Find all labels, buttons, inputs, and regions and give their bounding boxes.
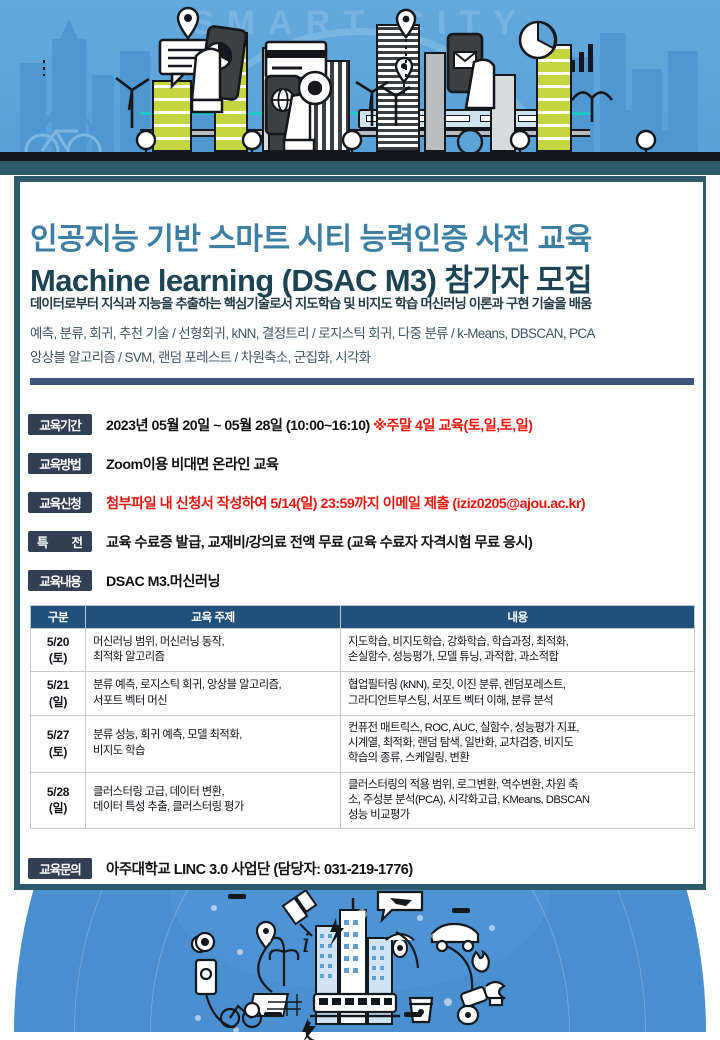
badge-contact: 교육문의 [28,858,92,879]
cell-date: 5/28(일) [31,772,86,829]
dash-decoration [404,1012,422,1017]
dash-decoration [264,1012,282,1017]
info-text-application: 첨부파일 내 신청서 작성하여 5/14(일) 23:59까지 이메일 제출 (… [106,493,585,513]
cell-date: 5/21(일) [31,672,86,715]
plug-icon [458,986,488,1024]
cell-date: 5/20(토) [31,629,86,672]
gear-icon [299,72,331,104]
table-body: 5/20(토) 머신러닝 범위, 머신러닝 동작,최적화 알고리즘 지도학습, … [31,629,695,829]
badge-method: 교육방법 [28,453,92,474]
windmill-icon [382,87,410,126]
cell-topic: 머신러닝 범위, 머신러닝 동작,최적화 알고리즘 [86,629,341,672]
windmill-icon [270,938,298,986]
keyword-line-2: 앙상블 알고리즘 / SVM, 랜덤 포레스트 / 차원축소, 군집화, 시각화 [30,346,370,366]
schedule-table: 구분 교육 주제 내용 5/20(토) 머신러닝 범위, 머신러닝 동작,최적화… [30,605,695,829]
th-division: 구분 [31,606,86,629]
th-topic: 교육 주제 [86,606,341,629]
banner-base-band [0,161,720,175]
cell-date: 5/27(토) [31,715,86,772]
info-text-method: Zoom이용 비대면 온라인 교육 [106,454,278,474]
info-row-benefits: 특전 교육 수료증 발급, 교재비/강의료 전액 무료 (교육 수료자 자격시험… [28,531,532,552]
hand-icon-left [192,49,222,112]
windmill-icon [116,78,149,128]
footer-icon-group: i [0,890,720,1040]
th-content: 내용 [341,606,695,629]
satellite-icon [283,890,316,936]
lightbulb-icon [486,982,504,1005]
table-row: 5/21(일) 분류 예측, 로지스틱 회귀, 앙상블 알고리즘,서포트 벡터 … [31,672,695,715]
info-text-period: 2023년 05월 20일 ~ 05월 28일 (10:00~16:10) ※주… [106,415,532,435]
cell-topic: 분류 성능, 회귀 예측, 모델 최적화,비지도 학습 [86,715,341,772]
dash-decoration [452,908,470,913]
cell-content: 협업필터링 (kNN), 로짓, 이진 분류, 렌덤포레스트,그라디언트부스팅,… [341,672,695,715]
bird-icon [572,92,612,122]
airplane-chat-icon [378,892,422,920]
info-row-application: 교육신청 첨부파일 내 신청서 작성하여 5/14(일) 23:59까지 이메일… [28,492,585,513]
banner-ground-line [0,152,720,161]
tree-icon [458,130,482,154]
map-pin-icon [396,58,412,82]
section-divider-bar [30,378,694,385]
table-row: 5/20(토) 머신러닝 범위, 머신러닝 동작,최적화 알고리즘 지도학습, … [31,629,695,672]
info-text-benefits: 교육 수료증 발급, 교재비/강의료 전액 무료 (교육 수료자 자격시험 무료… [106,532,532,552]
table-row: 5/28(일) 클러스터링 고급, 데이터 변환,데이터 특성 추출, 클러스터… [31,772,695,829]
cell-topic: 클러스터링 고급, 데이터 변환,데이터 특성 추출, 클러스터링 평가 [86,772,341,829]
contact-row: 교육문의 아주대학교 LINC 3.0 사업단 (담당자: 031-219-17… [28,858,413,879]
cell-content: 컨퓨전 매트릭스, ROC, AUC, 실함수, 성능평가 지표,시계열, 최적… [341,715,695,772]
badge-benefits-char1: 특 [37,532,49,551]
info-row-period: 교육기간 2023년 05월 20일 ~ 05월 28일 (10:00~16:1… [28,414,532,435]
lightbulb-icon [245,1003,259,1017]
cell-topic: 분류 예측, 로지스틱 회귀, 앙상블 알고리즘,서포트 벡터 머신 [86,672,341,715]
badge-benefits: 특전 [28,531,92,552]
bar-chart-icon [570,44,593,72]
info-text-curriculum: DSAC M3.머신러닝 [106,571,220,591]
table-row: 5/27(토) 분류 성능, 회귀 예측, 모델 최적화,비지도 학습 컨퓨전 … [31,715,695,772]
bottom-illustration: i [0,890,720,1040]
page-title-line1: 인공지능 기반 스마트 시티 능력인증 사전 교육 [30,214,592,258]
badge-curriculum: 교육내용 [28,570,92,591]
table-header-row: 구분 교육 주제 내용 [31,606,695,629]
pie-chart-icon [520,22,556,58]
flame-icon [473,952,489,972]
map-pin-icon [178,8,198,38]
info-row-curriculum: 교육내용 DSAC M3.머신러닝 [28,570,220,591]
poster-root: SMART CITY [0,0,720,1040]
cell-content: 지도학습, 비지도학습, 강화학습, 학습과정, 최적화,손실함수, 성능평가,… [341,629,695,672]
banner-icon-group [0,0,720,175]
gear-icon [196,933,214,951]
map-pin-icon [257,922,275,948]
badge-period: 교육기간 [28,414,92,435]
page-subtitle: 데이터로부터 지식과 지능을 추출하는 핵심기술로서 지도학습 및 비지도 학습… [30,293,591,312]
contact-text: 아주대학교 LINC 3.0 사업단 (담당자: 031-219-1776) [106,858,413,879]
car-icon [432,924,478,951]
keyword-line-1: 예측, 분류, 회귀, 추천 기술 / 선형회귀, kNN, 결정트리 / 로지… [30,322,595,342]
badge-benefits-char2: 전 [71,532,83,551]
badge-application: 교육신청 [28,492,92,513]
coffee-cup-icon [409,998,433,1022]
train-icon [310,994,400,1016]
top-banner-illustration: SMART CITY [0,0,720,175]
info-row-method: 교육방법 Zoom이용 비대면 온라인 교육 [28,453,278,474]
dash-decoration [228,894,246,899]
info-icon: i [302,929,310,959]
cell-content: 클러스터링의 적용 범위, 로그변환, 역수변환, 차원 축소, 주성분 분석(… [341,772,695,829]
